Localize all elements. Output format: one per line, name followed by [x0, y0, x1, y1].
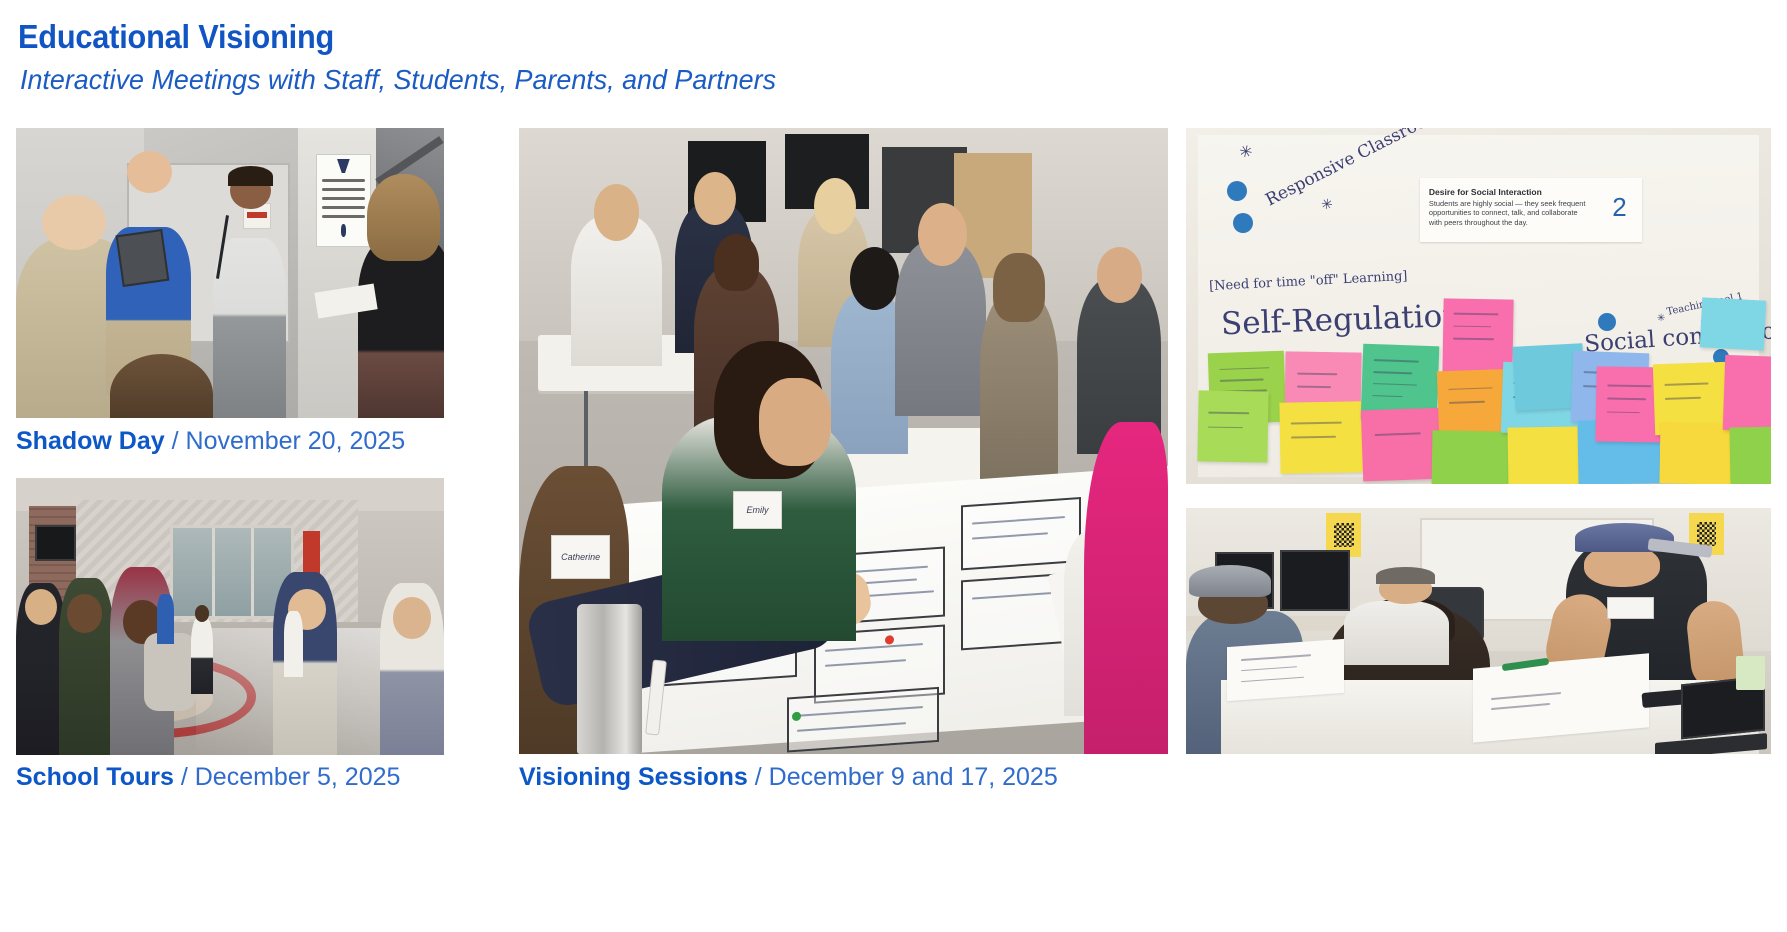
- lobby-display-icon: [35, 525, 76, 561]
- career-program-poster: [316, 154, 372, 247]
- caption-separator: /: [181, 763, 188, 791]
- laptop: [1648, 680, 1765, 754]
- caption-date: November 20, 2025: [186, 427, 406, 455]
- caption-event-name: Visioning Sessions: [519, 763, 748, 791]
- page-subtitle: Interactive Meetings with Staff, Student…: [20, 64, 776, 96]
- photo-school-tours[interactable]: [16, 478, 444, 755]
- page-title: Educational Visioning: [18, 18, 334, 56]
- photo-sticky-note-wall[interactable]: Responsive Classroom! [Need for time "of…: [1186, 128, 1771, 484]
- computer-lab-scene: [1186, 508, 1771, 754]
- id-badge: [1607, 597, 1654, 619]
- caption-event-name: School Tours: [16, 763, 174, 791]
- name-tag-catherine: Catherine: [551, 535, 609, 579]
- chart-paper-left: [1227, 639, 1344, 701]
- photo-shadow-day[interactable]: [16, 128, 444, 418]
- photo-visioning-sessions[interactable]: Catherine Emily: [519, 128, 1168, 754]
- printed-insight-card: Desire for Social Interaction Students a…: [1420, 178, 1642, 242]
- chart-paper-right: [1473, 653, 1649, 742]
- shadow-day-scene: [16, 128, 444, 418]
- beanie-hat: [1189, 565, 1271, 597]
- caption-visioning-sessions: Visioning Sessions / December 9 and 17, …: [519, 763, 1058, 792]
- educational-visioning-page: Educational Visioning Interactive Meetin…: [0, 0, 1787, 932]
- tumbler-cup: [577, 604, 642, 754]
- caption-event-name: Shadow Day: [16, 427, 165, 455]
- caption-shadow-day: Shadow Day / November 20, 2025: [16, 427, 405, 456]
- caption-date: December 5, 2025: [195, 763, 401, 791]
- caption-date: December 9 and 17, 2025: [769, 763, 1058, 791]
- school-tours-scene: [16, 478, 444, 755]
- insight-card-heading: Desire for Social Interaction: [1429, 187, 1542, 197]
- monitor-right: [1280, 550, 1350, 612]
- photo-computer-lab[interactable]: [1186, 508, 1771, 754]
- sticky-wall-scene: Responsive Classroom! [Need for time "of…: [1186, 128, 1771, 484]
- name-tag-emily: Emily: [733, 491, 782, 529]
- caption-separator: /: [172, 427, 179, 455]
- caption-separator: /: [755, 763, 762, 791]
- insight-card-number: 2: [1612, 192, 1626, 223]
- caption-school-tours: School Tours / December 5, 2025: [16, 763, 400, 792]
- visioning-scene: Catherine Emily: [519, 128, 1168, 754]
- insight-card-body: Students are highly social — they seek f…: [1429, 199, 1589, 227]
